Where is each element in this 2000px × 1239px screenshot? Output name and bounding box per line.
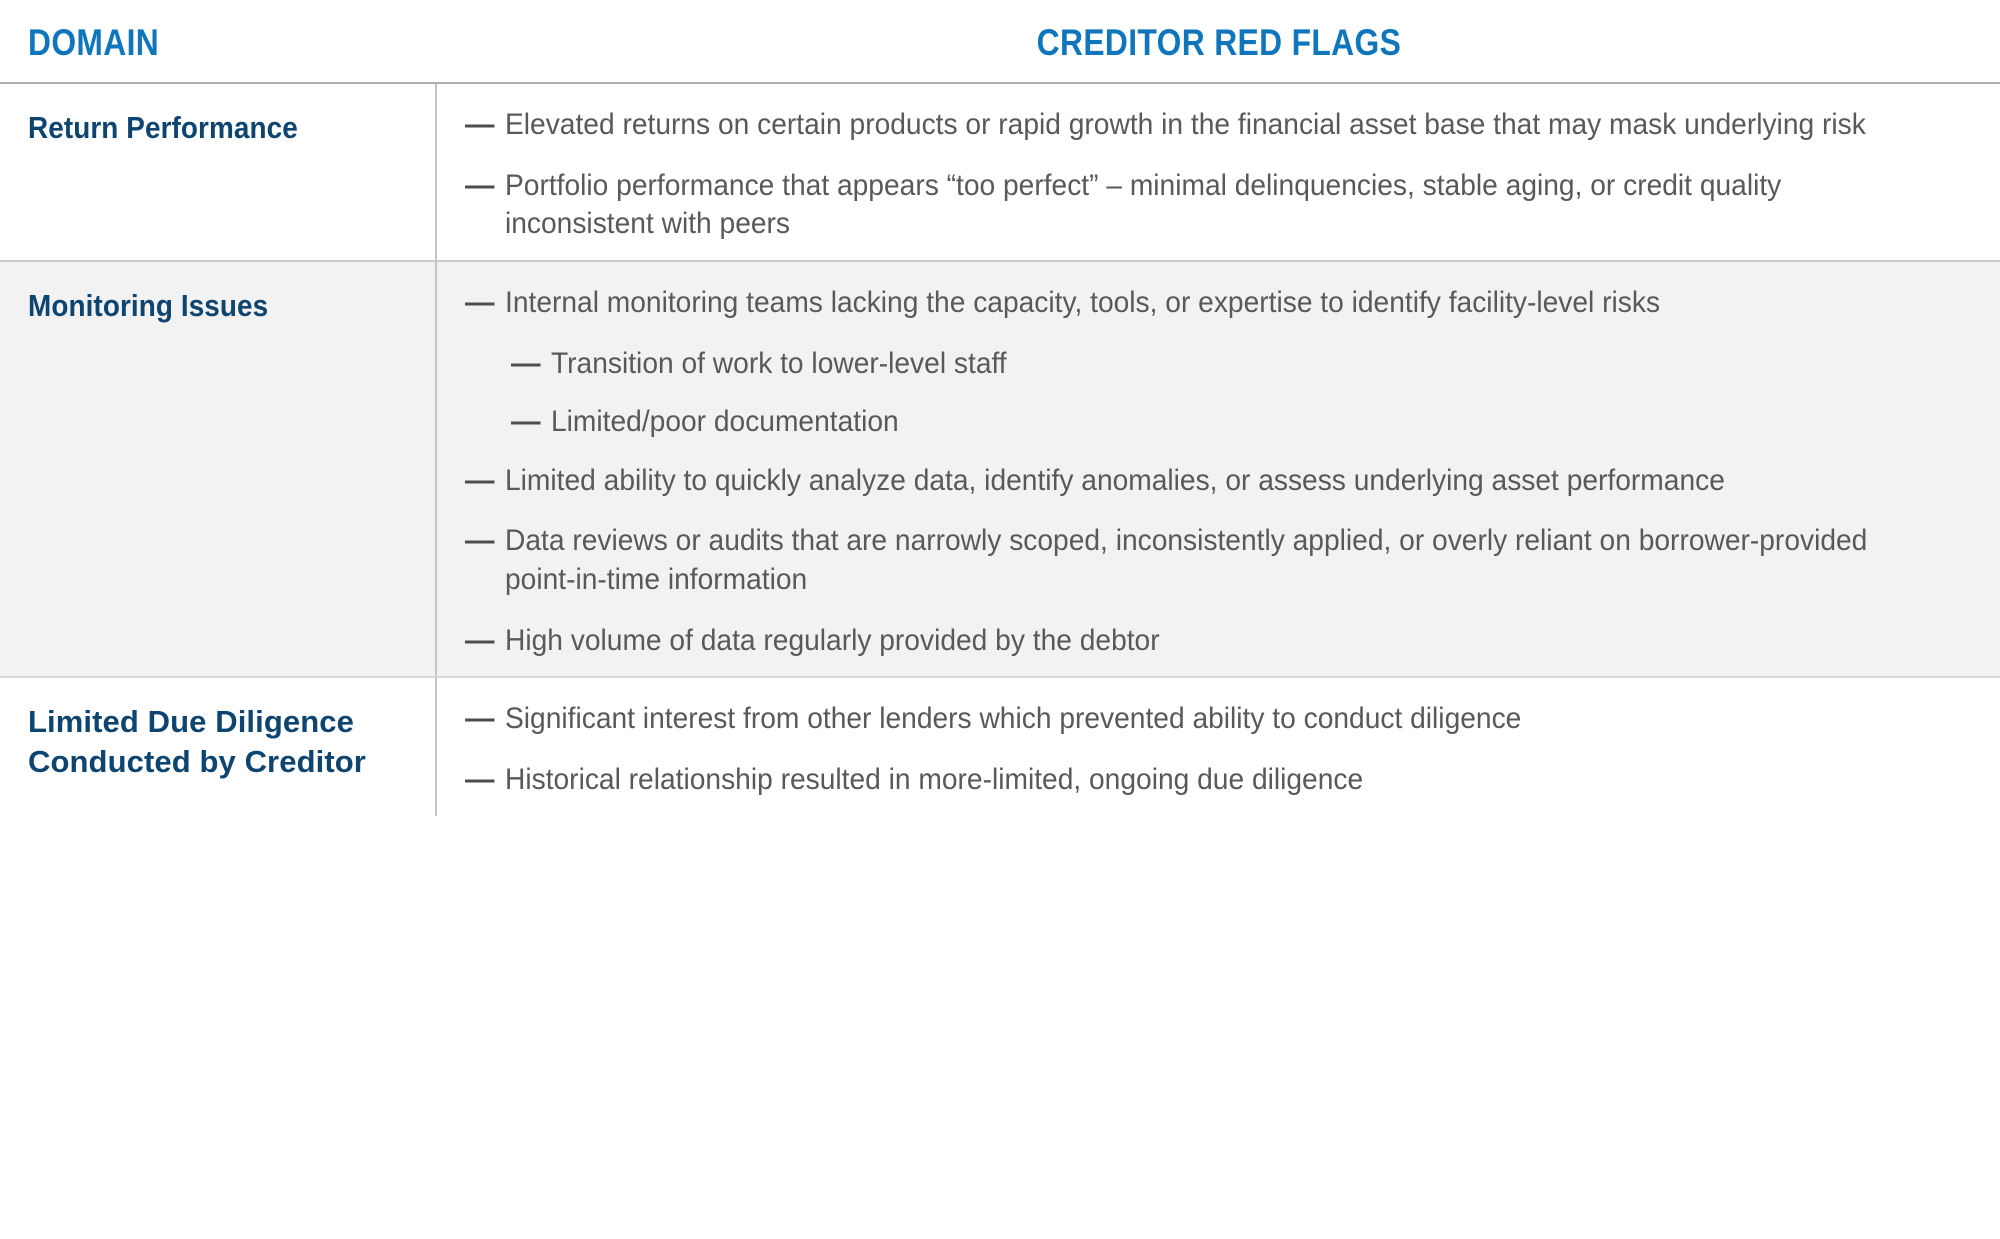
table-row: Return Performance—Elevated returns on c… — [0, 84, 2000, 260]
bullet-item: —Data reviews or audits that are narrowl… — [465, 522, 1982, 599]
domain-label: Limited Due Diligence Conducted by Credi… — [28, 702, 413, 781]
em-dash-bullet-icon: — — [465, 622, 495, 661]
bullet-text: Data reviews or audits that are narrowly… — [505, 522, 1916, 599]
creditor-red-flags-table: DOMAIN CREDITOR RED FLAGS Return Perform… — [0, 0, 2000, 1239]
bullet-text: Internal monitoring teams lacking the ca… — [505, 284, 1916, 323]
bullet-item: —Elevated returns on certain products or… — [465, 106, 1982, 145]
bullet-item: —Internal monitoring teams lacking the c… — [465, 284, 1982, 323]
domain-label: Monitoring Issues — [28, 286, 375, 325]
em-dash-bullet-icon: — — [465, 167, 495, 206]
bullet-text: Historical relationship resulted in more… — [505, 761, 1916, 800]
em-dash-bullet-icon: — — [465, 761, 495, 800]
bullet-text: Portfolio performance that appears “too … — [505, 167, 1916, 244]
table-row: Monitoring Issues—Internal monitoring te… — [0, 262, 2000, 676]
em-dash-bullet-icon: — — [511, 345, 541, 384]
column-divider — [435, 678, 437, 815]
domain-label: Return Performance — [28, 108, 375, 147]
red-flags-cell: —Significant interest from other lenders… — [437, 678, 2000, 815]
em-dash-bullet-icon: — — [511, 403, 541, 442]
bullet-text: Limited/poor documentation — [551, 403, 1918, 442]
domain-cell: Limited Due Diligence Conducted by Credi… — [0, 678, 437, 815]
em-dash-bullet-icon: — — [465, 284, 495, 323]
table-header-row: DOMAIN CREDITOR RED FLAGS — [0, 0, 2000, 84]
bullet-item: —Significant interest from other lenders… — [465, 700, 1982, 739]
em-dash-bullet-icon: — — [465, 106, 495, 145]
table-body: Return Performance—Elevated returns on c… — [0, 84, 2000, 816]
em-dash-bullet-icon: — — [465, 462, 495, 501]
bullet-text: Elevated returns on certain products or … — [505, 106, 1916, 145]
red-flags-cell: —Internal monitoring teams lacking the c… — [437, 262, 2000, 676]
red-flags-cell: —Elevated returns on certain products or… — [437, 84, 2000, 260]
bullet-item: —Limited ability to quickly analyze data… — [465, 462, 1982, 501]
header-cell-red-flags: CREDITOR RED FLAGS — [437, 24, 2000, 61]
header-label-domain: DOMAIN — [28, 24, 380, 61]
header-label-red-flags: CREDITOR RED FLAGS — [1036, 24, 1400, 61]
domain-cell: Return Performance — [0, 84, 437, 260]
bullet-item: —High volume of data regularly provided … — [465, 622, 1982, 661]
em-dash-bullet-icon: — — [465, 700, 495, 739]
header-cell-domain: DOMAIN — [0, 24, 437, 61]
bullet-item: —Portfolio performance that appears “too… — [465, 167, 1982, 244]
bullet-text: Limited ability to quickly analyze data,… — [505, 462, 1916, 501]
bullet-text: High volume of data regularly provided b… — [505, 622, 1916, 661]
em-dash-bullet-icon: — — [465, 522, 495, 561]
sub-bullet-item: —Limited/poor documentation — [511, 403, 1982, 442]
bullet-text: Significant interest from other lenders … — [505, 700, 1916, 739]
table-row: Limited Due Diligence Conducted by Credi… — [0, 678, 2000, 815]
bullet-item: —Historical relationship resulted in mor… — [465, 761, 1982, 800]
domain-cell: Monitoring Issues — [0, 262, 437, 676]
column-divider — [435, 262, 437, 676]
column-divider — [435, 84, 437, 260]
bullet-text: Transition of work to lower-level staff — [551, 345, 1918, 384]
sub-bullet-item: —Transition of work to lower-level staff — [511, 345, 1982, 384]
